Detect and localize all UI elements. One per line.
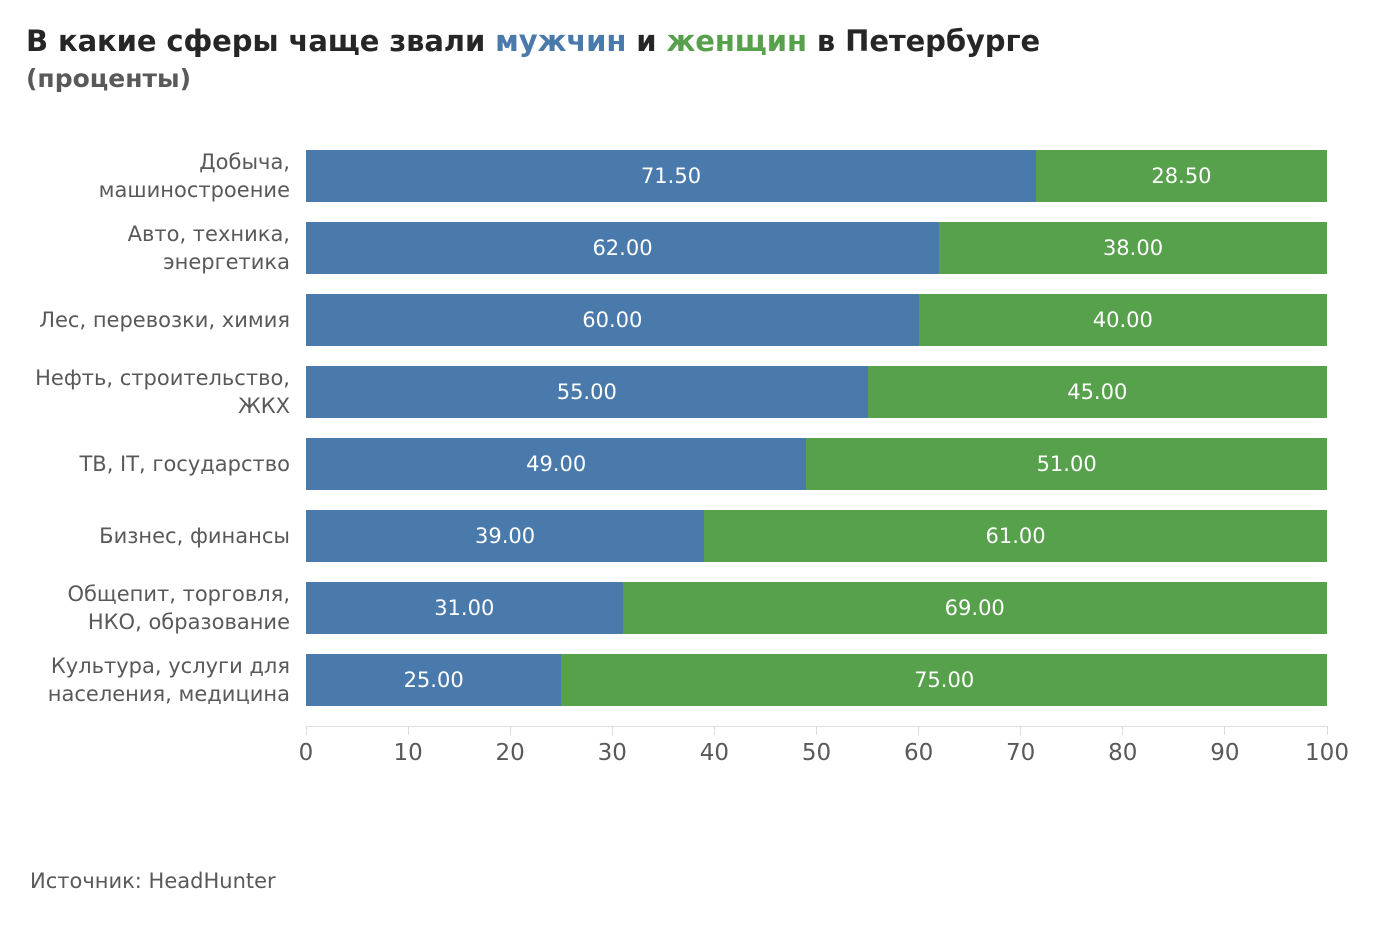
bar-value-label: 40.00 xyxy=(1093,310,1153,331)
chart-subtitle: (проценты) xyxy=(26,62,1366,96)
bar-row: Лес, перевозки, химия60.0040.00 xyxy=(0,294,1400,346)
bar-value-label: 38.00 xyxy=(1103,238,1163,259)
x-axis-tick-label: 0 xyxy=(299,740,314,766)
x-axis-tick-label: 30 xyxy=(598,740,627,766)
bar-track: 31.0069.00 xyxy=(306,582,1327,634)
bar-segment-women[interactable]: 75.00 xyxy=(561,654,1327,706)
bar-track: 39.0061.00 xyxy=(306,510,1327,562)
title-text-part1: В какие сферы чаще звали xyxy=(26,24,495,58)
x-axis-tick-label: 50 xyxy=(802,740,831,766)
x-axis-tick-mark xyxy=(510,726,511,735)
category-label-line: Нефть, строительство, xyxy=(0,364,290,392)
bar-value-label: 31.00 xyxy=(434,598,494,619)
bar-segment-men[interactable]: 60.00 xyxy=(306,294,919,346)
bar-segment-women[interactable]: 69.00 xyxy=(623,582,1327,634)
x-axis-tick-label: 90 xyxy=(1210,740,1239,766)
x-axis-tick-mark xyxy=(816,726,817,735)
x-axis-tick-mark xyxy=(1224,726,1225,735)
category-label: Добыча,машиностроение xyxy=(0,148,290,204)
category-label: Культура, услуги длянаселения, медицина xyxy=(0,652,290,708)
title-text-part2: и xyxy=(626,24,666,58)
bar-value-label: 39.00 xyxy=(475,526,535,547)
bar-segment-men[interactable]: 39.00 xyxy=(306,510,704,562)
x-axis-tick-label: 20 xyxy=(496,740,525,766)
category-label-line: энергетика xyxy=(0,248,290,276)
bar-value-label: 28.50 xyxy=(1151,166,1211,187)
category-label: Бизнес, финансы xyxy=(0,522,290,550)
bar-track: 62.0038.00 xyxy=(306,222,1327,274)
category-label: Общепит, торговля,НКО, образование xyxy=(0,580,290,636)
bar-segment-women[interactable]: 51.00 xyxy=(806,438,1327,490)
bar-segment-women[interactable]: 38.00 xyxy=(939,222,1327,274)
x-axis-tick-label: 80 xyxy=(1108,740,1137,766)
bar-track: 71.5028.50 xyxy=(306,150,1327,202)
stacked-bar-chart: Добыча,машиностроение71.5028.50Авто, тех… xyxy=(0,150,1400,750)
x-axis-tick-label: 60 xyxy=(904,740,933,766)
bar-row: Добыча,машиностроение71.5028.50 xyxy=(0,150,1400,202)
bar-value-label: 60.00 xyxy=(582,310,642,331)
x-axis-tick-label: 100 xyxy=(1305,740,1349,766)
source-note: Источник: HeadHunter xyxy=(30,868,276,894)
category-label-line: Добыча, xyxy=(0,148,290,176)
category-label-line: Лес, перевозки, химия xyxy=(0,306,290,334)
bar-value-label: 61.00 xyxy=(986,526,1046,547)
x-axis-tick-mark xyxy=(306,726,307,735)
bar-segment-women[interactable]: 45.00 xyxy=(868,366,1327,418)
bar-track: 60.0040.00 xyxy=(306,294,1327,346)
bar-segment-men[interactable]: 62.00 xyxy=(306,222,939,274)
bar-segment-women[interactable]: 28.50 xyxy=(1036,150,1327,202)
x-axis-tick-mark xyxy=(1020,726,1021,735)
x-axis-tick-mark xyxy=(612,726,613,735)
x-axis-tick-mark xyxy=(1122,726,1123,735)
chart-header: В какие сферы чаще звали мужчин и женщин… xyxy=(26,22,1366,96)
category-label: Лес, перевозки, химия xyxy=(0,306,290,334)
bar-segment-men[interactable]: 25.00 xyxy=(306,654,561,706)
bar-value-label: 25.00 xyxy=(404,670,464,691)
bar-value-label: 62.00 xyxy=(592,238,652,259)
x-axis-tick-mark xyxy=(1327,726,1328,735)
category-label-line: Авто, техника, xyxy=(0,220,290,248)
category-label: Авто, техника,энергетика xyxy=(0,220,290,276)
x-axis-tick-label: 70 xyxy=(1006,740,1035,766)
x-axis-tick-mark xyxy=(408,726,409,735)
bar-value-label: 71.50 xyxy=(641,166,701,187)
bar-row: ТВ, IT, государство49.0051.00 xyxy=(0,438,1400,490)
bar-row: Культура, услуги длянаселения, медицина2… xyxy=(0,654,1400,706)
bar-segment-men[interactable]: 31.00 xyxy=(306,582,623,634)
x-axis-ticks: 0102030405060708090100 xyxy=(306,726,1327,736)
bar-segment-women[interactable]: 40.00 xyxy=(919,294,1327,346)
bar-value-label: 45.00 xyxy=(1067,382,1127,403)
x-axis-tick-mark xyxy=(918,726,919,735)
bar-track: 25.0075.00 xyxy=(306,654,1327,706)
title-word-women: женщин xyxy=(667,24,807,58)
bar-value-label: 49.00 xyxy=(526,454,586,475)
category-label-line: Бизнес, финансы xyxy=(0,522,290,550)
category-label-line: Общепит, торговля, xyxy=(0,580,290,608)
category-label: Нефть, строительство,ЖКХ xyxy=(0,364,290,420)
category-label-line: машиностроение xyxy=(0,176,290,204)
bar-track: 55.0045.00 xyxy=(306,366,1327,418)
bar-segment-men[interactable]: 49.00 xyxy=(306,438,806,490)
category-label-line: ЖКХ xyxy=(0,392,290,420)
bar-track: 49.0051.00 xyxy=(306,438,1327,490)
bar-row: Бизнес, финансы39.0061.00 xyxy=(0,510,1400,562)
bar-value-label: 69.00 xyxy=(945,598,1005,619)
bar-row: Нефть, строительство,ЖКХ55.0045.00 xyxy=(0,366,1400,418)
category-label-line: ТВ, IT, государство xyxy=(0,450,290,478)
x-axis-tick-mark xyxy=(714,726,715,735)
bar-rows: Добыча,машиностроение71.5028.50Авто, тех… xyxy=(0,150,1400,726)
bar-segment-men[interactable]: 55.00 xyxy=(306,366,868,418)
bar-value-label: 75.00 xyxy=(914,670,974,691)
category-label: ТВ, IT, государство xyxy=(0,450,290,478)
bar-row: Авто, техника,энергетика62.0038.00 xyxy=(0,222,1400,274)
bar-segment-women[interactable]: 61.00 xyxy=(704,510,1327,562)
category-label-line: Культура, услуги для xyxy=(0,652,290,680)
x-axis-tick-label: 40 xyxy=(700,740,729,766)
bar-segment-men[interactable]: 71.50 xyxy=(306,150,1036,202)
x-axis-tick-label: 10 xyxy=(393,740,422,766)
title-word-men: мужчин xyxy=(495,24,626,58)
title-text-part3: в Петербурге xyxy=(807,24,1040,58)
category-label-line: населения, медицина xyxy=(0,680,290,708)
bar-value-label: 51.00 xyxy=(1037,454,1097,475)
page-title: В какие сферы чаще звали мужчин и женщин… xyxy=(26,22,1366,60)
bar-row: Общепит, торговля,НКО, образование31.006… xyxy=(0,582,1400,634)
category-label-line: НКО, образование xyxy=(0,608,290,636)
bar-value-label: 55.00 xyxy=(557,382,617,403)
